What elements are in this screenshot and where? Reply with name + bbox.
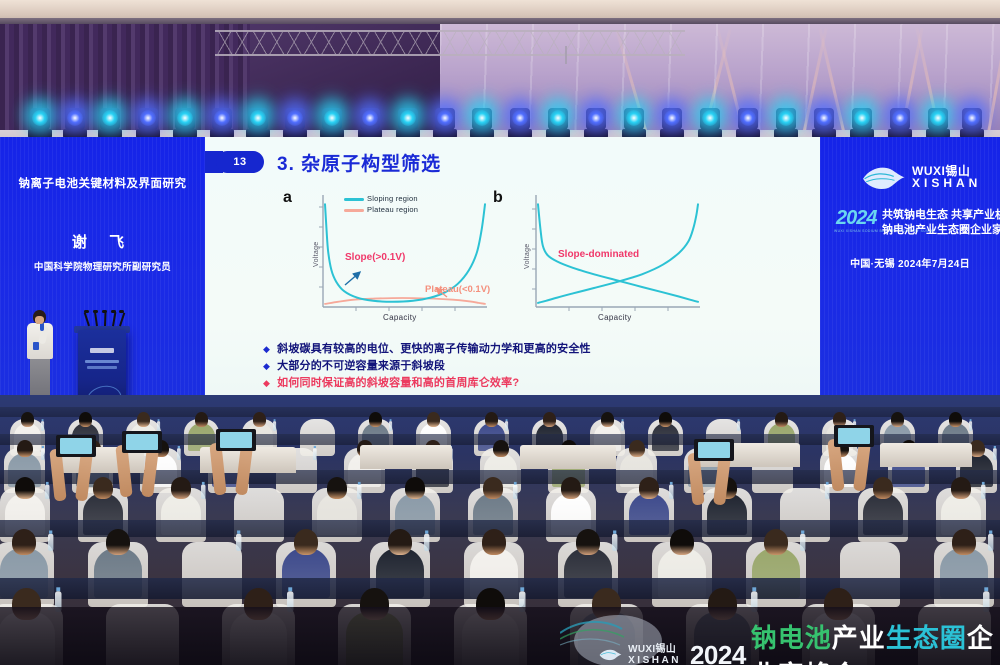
chart-a-xlabel: Capacity	[383, 313, 417, 322]
attendee-head	[493, 440, 509, 458]
speaker-affiliation: 中国科学院物理研究所副研究员	[0, 259, 205, 273]
water-bottle	[988, 534, 993, 551]
annotation-plateau: Plateau(<0.1V)	[425, 284, 490, 295]
annotation-slope-dominated: Slope-dominated	[558, 249, 639, 260]
attendee-head	[670, 529, 694, 555]
water-bottle	[177, 448, 181, 460]
attendee-head	[427, 412, 441, 427]
stage-light	[210, 104, 234, 138]
slide-bullet-list: ◆斜坡碳具有较高的电位、更快的离子传输动力学和更高的安全性◆大部分的不可逆容量来…	[263, 342, 803, 393]
legend-label-sloping: Sloping region	[367, 194, 418, 203]
chart-panel-b: Voltage Capacity Slope-dominated	[510, 189, 705, 329]
water-bottle	[48, 534, 53, 551]
phone-screen	[698, 442, 730, 458]
lighting-truss	[215, 30, 685, 56]
stage-light	[660, 104, 684, 138]
moving-head-light-row	[0, 86, 1000, 138]
attendee-head	[294, 529, 318, 555]
water-bottle	[969, 422, 972, 432]
stage-light	[508, 104, 532, 138]
bullet-text: 如何同时保证高的斜坡容量和高的首周库仑效率?	[277, 376, 519, 391]
water-bottle	[825, 484, 830, 498]
table-cloth	[520, 445, 616, 469]
chart-a-ylabel: Voltage	[313, 242, 320, 267]
bullet-text: 斜坡碳具有较高的电位、更快的离子传输动力学和更高的安全性	[277, 342, 591, 357]
table-cloth	[880, 443, 972, 467]
banner-title-segment: 生态圈	[886, 623, 967, 653]
attendee-head	[21, 412, 35, 427]
stage-light	[246, 104, 270, 138]
banner-title-block: WUXI锡山 XISHAN 2024 钠电池产业生态圈企业家峰会	[598, 618, 1000, 665]
phone-screen	[838, 428, 870, 444]
stage-light	[433, 104, 457, 138]
attendee-head	[106, 529, 130, 555]
bullet-text: 大部分的不可逆容量来源于斜坡段	[277, 359, 445, 374]
slogan-line-1: 共筑钠电生态 共享产业机遇	[882, 206, 1000, 222]
stage-light	[173, 104, 197, 138]
attendee-head	[482, 529, 506, 555]
water-bottle	[236, 534, 241, 551]
attendee-head	[891, 412, 905, 427]
stage-light	[358, 104, 382, 138]
water-bottle	[612, 534, 617, 551]
attendee-head	[639, 477, 659, 499]
attendee-head	[543, 412, 557, 427]
wuxi-brand: WUXI锡山 XISHAN	[912, 165, 981, 189]
attendee-head	[561, 477, 581, 499]
water-bottle	[669, 484, 674, 498]
phone-screen	[126, 434, 158, 450]
water-bottle	[800, 534, 805, 551]
stage-light	[546, 104, 570, 138]
chart-panel-a: Sloping region Plateau region Voltage Ca…	[301, 189, 491, 329]
venue-date: 中国·无锡 2024年7月24日	[820, 255, 1000, 270]
water-bottle	[981, 484, 986, 498]
stage-light	[283, 104, 307, 138]
water-bottle	[273, 422, 276, 432]
attendee-head	[483, 477, 503, 499]
page-number-badge: 13	[216, 151, 264, 173]
water-bottle	[357, 484, 362, 498]
panel-a-label: a	[283, 189, 292, 207]
microphone-head	[84, 310, 89, 313]
banner-wuxi-brand: WUXI锡山 XISHAN	[628, 644, 681, 665]
slide-bullet: ◆如何同时保证高的斜坡容量和高的首周库仑效率?	[263, 376, 803, 391]
banner-brand-cn: WUXI锡山	[628, 644, 681, 655]
water-bottle	[41, 422, 44, 432]
attendee-head	[171, 477, 191, 499]
microphone-head	[119, 310, 124, 313]
water-bottle	[45, 484, 50, 498]
attendee-head	[951, 477, 971, 499]
slide-title: 3. 杂原子构型筛选	[277, 149, 441, 176]
legend-swatch-plateau	[344, 209, 364, 212]
screen-right-panel: WUXI锡山 XISHAN 2024 WUXI XISHAN SODIUM BA…	[820, 137, 1000, 402]
water-bottle	[389, 422, 392, 432]
presentation-slide: 13 3. 杂原子构型筛选 a b	[205, 137, 820, 402]
stage-light	[63, 104, 87, 138]
water-bottle	[424, 534, 429, 551]
bullet-marker-icon: ◆	[263, 359, 270, 374]
banner-title: 钠电池产业生态圈企业家峰会	[751, 618, 1000, 665]
stage-light	[736, 104, 760, 138]
phone-screen	[220, 432, 252, 448]
attendee-head	[949, 412, 963, 427]
attendee-head	[405, 477, 425, 499]
attendee-head	[775, 412, 789, 427]
annotation-slope: Slope(>0.1V)	[345, 252, 405, 263]
attendee-head	[601, 412, 615, 427]
slide-bullet: ◆斜坡碳具有较高的电位、更快的离子传输动力学和更高的安全性	[263, 342, 803, 357]
panel-b-label: b	[493, 189, 503, 207]
stage-light	[926, 104, 950, 138]
water-bottle	[41, 448, 45, 460]
stage-light	[850, 104, 874, 138]
banner-brand-en: XISHAN	[628, 655, 681, 665]
stage-light	[28, 104, 52, 138]
attendee-head	[388, 529, 412, 555]
water-bottle	[513, 484, 518, 498]
water-bottle	[313, 448, 317, 460]
stage-light	[470, 104, 494, 138]
stage-light	[622, 104, 646, 138]
attendee-head	[195, 412, 209, 427]
attendee-head	[15, 477, 35, 499]
water-bottle	[157, 422, 160, 432]
stage-light	[320, 104, 344, 138]
stage-light	[812, 104, 836, 138]
microphone-head	[102, 310, 107, 313]
attendee-head	[17, 440, 33, 458]
attendee-head	[253, 412, 267, 427]
research-title: 钠离子电池关键材料及界面研究	[0, 175, 205, 191]
banner-title-segment: 产业	[832, 623, 886, 653]
attendee-head	[485, 412, 499, 427]
attendee-head	[873, 477, 893, 499]
bullet-marker-icon: ◆	[263, 342, 270, 357]
stage-light	[98, 104, 122, 138]
attendee-head	[79, 412, 93, 427]
attendee-head	[629, 440, 645, 458]
banner-title-segment: 钠电池	[751, 623, 832, 653]
table-cloth	[360, 445, 452, 469]
attendee-head	[369, 412, 383, 427]
phone-screen	[60, 438, 92, 454]
banner-fish-logo-icon	[598, 644, 622, 665]
table-row	[0, 407, 1000, 417]
attendee-head	[137, 412, 151, 427]
banner-year: 2024	[690, 640, 746, 665]
legend-swatch-sloping	[344, 198, 364, 201]
stage-light	[698, 104, 722, 138]
microphone-head	[111, 310, 116, 313]
stage-light	[960, 104, 984, 138]
chart-b-ylabel: Voltage	[524, 244, 531, 269]
stage-light	[584, 104, 608, 138]
attendee-head	[93, 477, 113, 499]
attendee-head	[659, 412, 673, 427]
brand-en: XISHAN	[912, 177, 981, 189]
attendee-head	[12, 529, 36, 555]
water-bottle	[505, 422, 508, 432]
attendee-head	[764, 529, 788, 555]
slide-bullet: ◆大部分的不可逆容量来源于斜坡段	[263, 359, 803, 374]
attendee-head	[576, 529, 600, 555]
stage-light	[888, 104, 912, 138]
stage-light	[774, 104, 798, 138]
microphone-head	[93, 310, 98, 313]
water-bottle	[201, 484, 206, 498]
water-bottle	[993, 448, 997, 460]
stage-light	[396, 104, 420, 138]
speaker-name: 谢 飞	[0, 231, 205, 252]
attendee-head	[952, 529, 976, 555]
fish-logo-icon	[860, 163, 906, 193]
stage-light	[136, 104, 160, 138]
conference-photo: 钠离子电池关键材料及界面研究 谢 飞 中国科学院物理研究所副研究员 WUXI锡山…	[0, 0, 1000, 665]
legend-label-plateau: Plateau region	[367, 205, 418, 214]
water-bottle	[621, 422, 624, 432]
year-2024: 2024	[836, 207, 877, 230]
chart-b-xlabel: Capacity	[598, 313, 632, 322]
bullet-marker-icon: ◆	[263, 376, 270, 391]
attendee-head	[327, 477, 347, 499]
slogan-line-2: 钠电池产业生态圈企业家峰会	[882, 221, 1000, 237]
water-bottle	[737, 422, 740, 432]
